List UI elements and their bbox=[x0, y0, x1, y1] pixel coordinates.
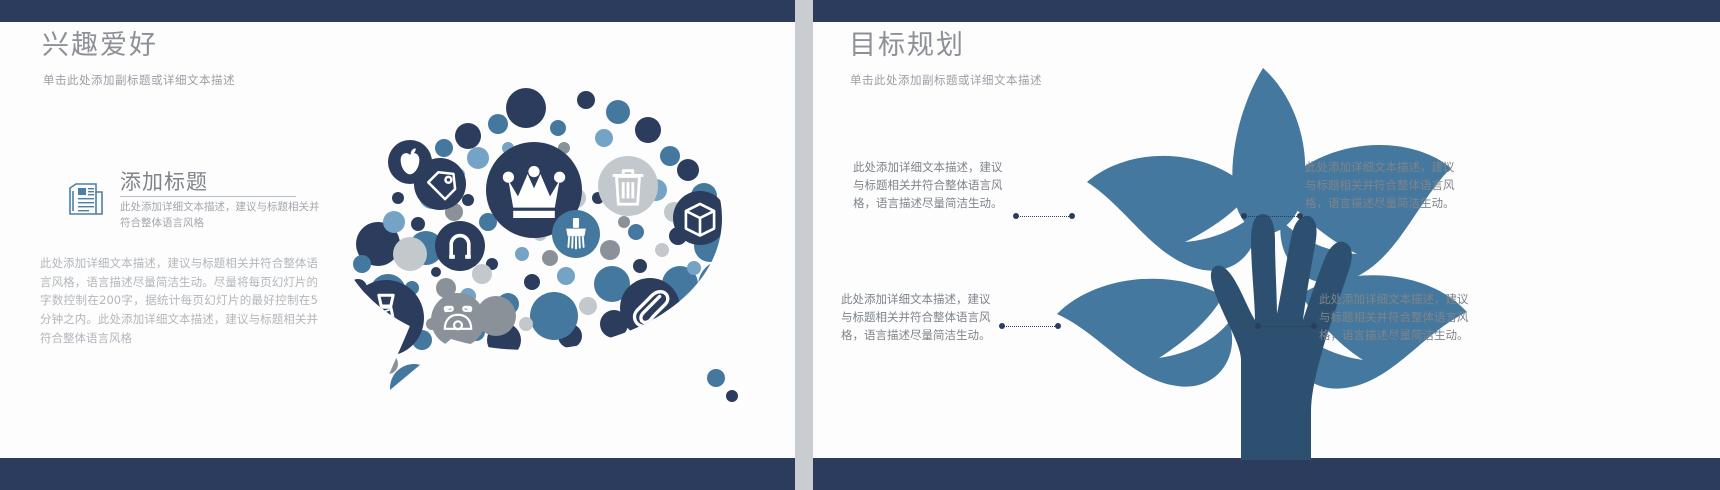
slide-bottom-bar bbox=[0, 458, 795, 490]
section-heading: 添加标题 bbox=[120, 166, 208, 196]
slide-bottom-bar bbox=[813, 458, 1720, 490]
speech-bubble-icon-cloud bbox=[318, 78, 738, 408]
slide-goal-planning[interactable]: 目标规划 单击此处添加副标题或详细文本描述 bbox=[813, 0, 1720, 490]
slide-top-bar bbox=[813, 0, 1720, 22]
connector-top-right bbox=[1241, 212, 1303, 221]
section-divider bbox=[120, 196, 296, 197]
hand-tree-graphic bbox=[1009, 62, 1509, 460]
slide-deck-view: 兴趣爱好 单击此处添加副标题或详细文本描述 bbox=[0, 0, 1720, 490]
callout-text-bottom-right: 此处添加详细文本描述，建议与标题相关并符合整体语言风格，语言描述尽量简洁生动。 bbox=[1319, 290, 1471, 344]
page-subtitle: 单击此处添加副标题或详细文本描述 bbox=[43, 72, 235, 88]
slide-interests[interactable]: 兴趣爱好 单击此处添加副标题或详细文本描述 bbox=[0, 0, 795, 490]
callout-text-top-left: 此处添加详细文本描述，建议与标题相关并符合整体语言风格，语言描述尽量简洁生动。 bbox=[853, 158, 1005, 212]
page-title: 兴趣爱好 bbox=[42, 32, 158, 59]
callout-text-bottom-left: 此处添加详细文本描述，建议与标题相关并符合整体语言风格，语言描述尽量简洁生动。 bbox=[841, 290, 993, 344]
slide-gutter bbox=[795, 0, 813, 490]
callout-text-top-right: 此处添加详细文本描述，建议与标题相关并符合整体语言风格，语言描述尽量简洁生动。 bbox=[1305, 158, 1457, 212]
newspaper-icon bbox=[66, 180, 106, 218]
page-title: 目标规划 bbox=[849, 32, 965, 59]
connector-top-left bbox=[1013, 212, 1075, 221]
slide-top-bar bbox=[0, 0, 795, 22]
connector-bottom-right bbox=[1255, 322, 1317, 331]
section-description: 此处添加详细文本描述，建议与标题相关并符合整体语言风格 bbox=[120, 200, 320, 232]
body-paragraph: 此处添加详细文本描述，建议与标题相关并符合整体语言风格，语言描述尽量简洁生动。尽… bbox=[40, 254, 318, 347]
connector-bottom-left bbox=[999, 322, 1061, 331]
